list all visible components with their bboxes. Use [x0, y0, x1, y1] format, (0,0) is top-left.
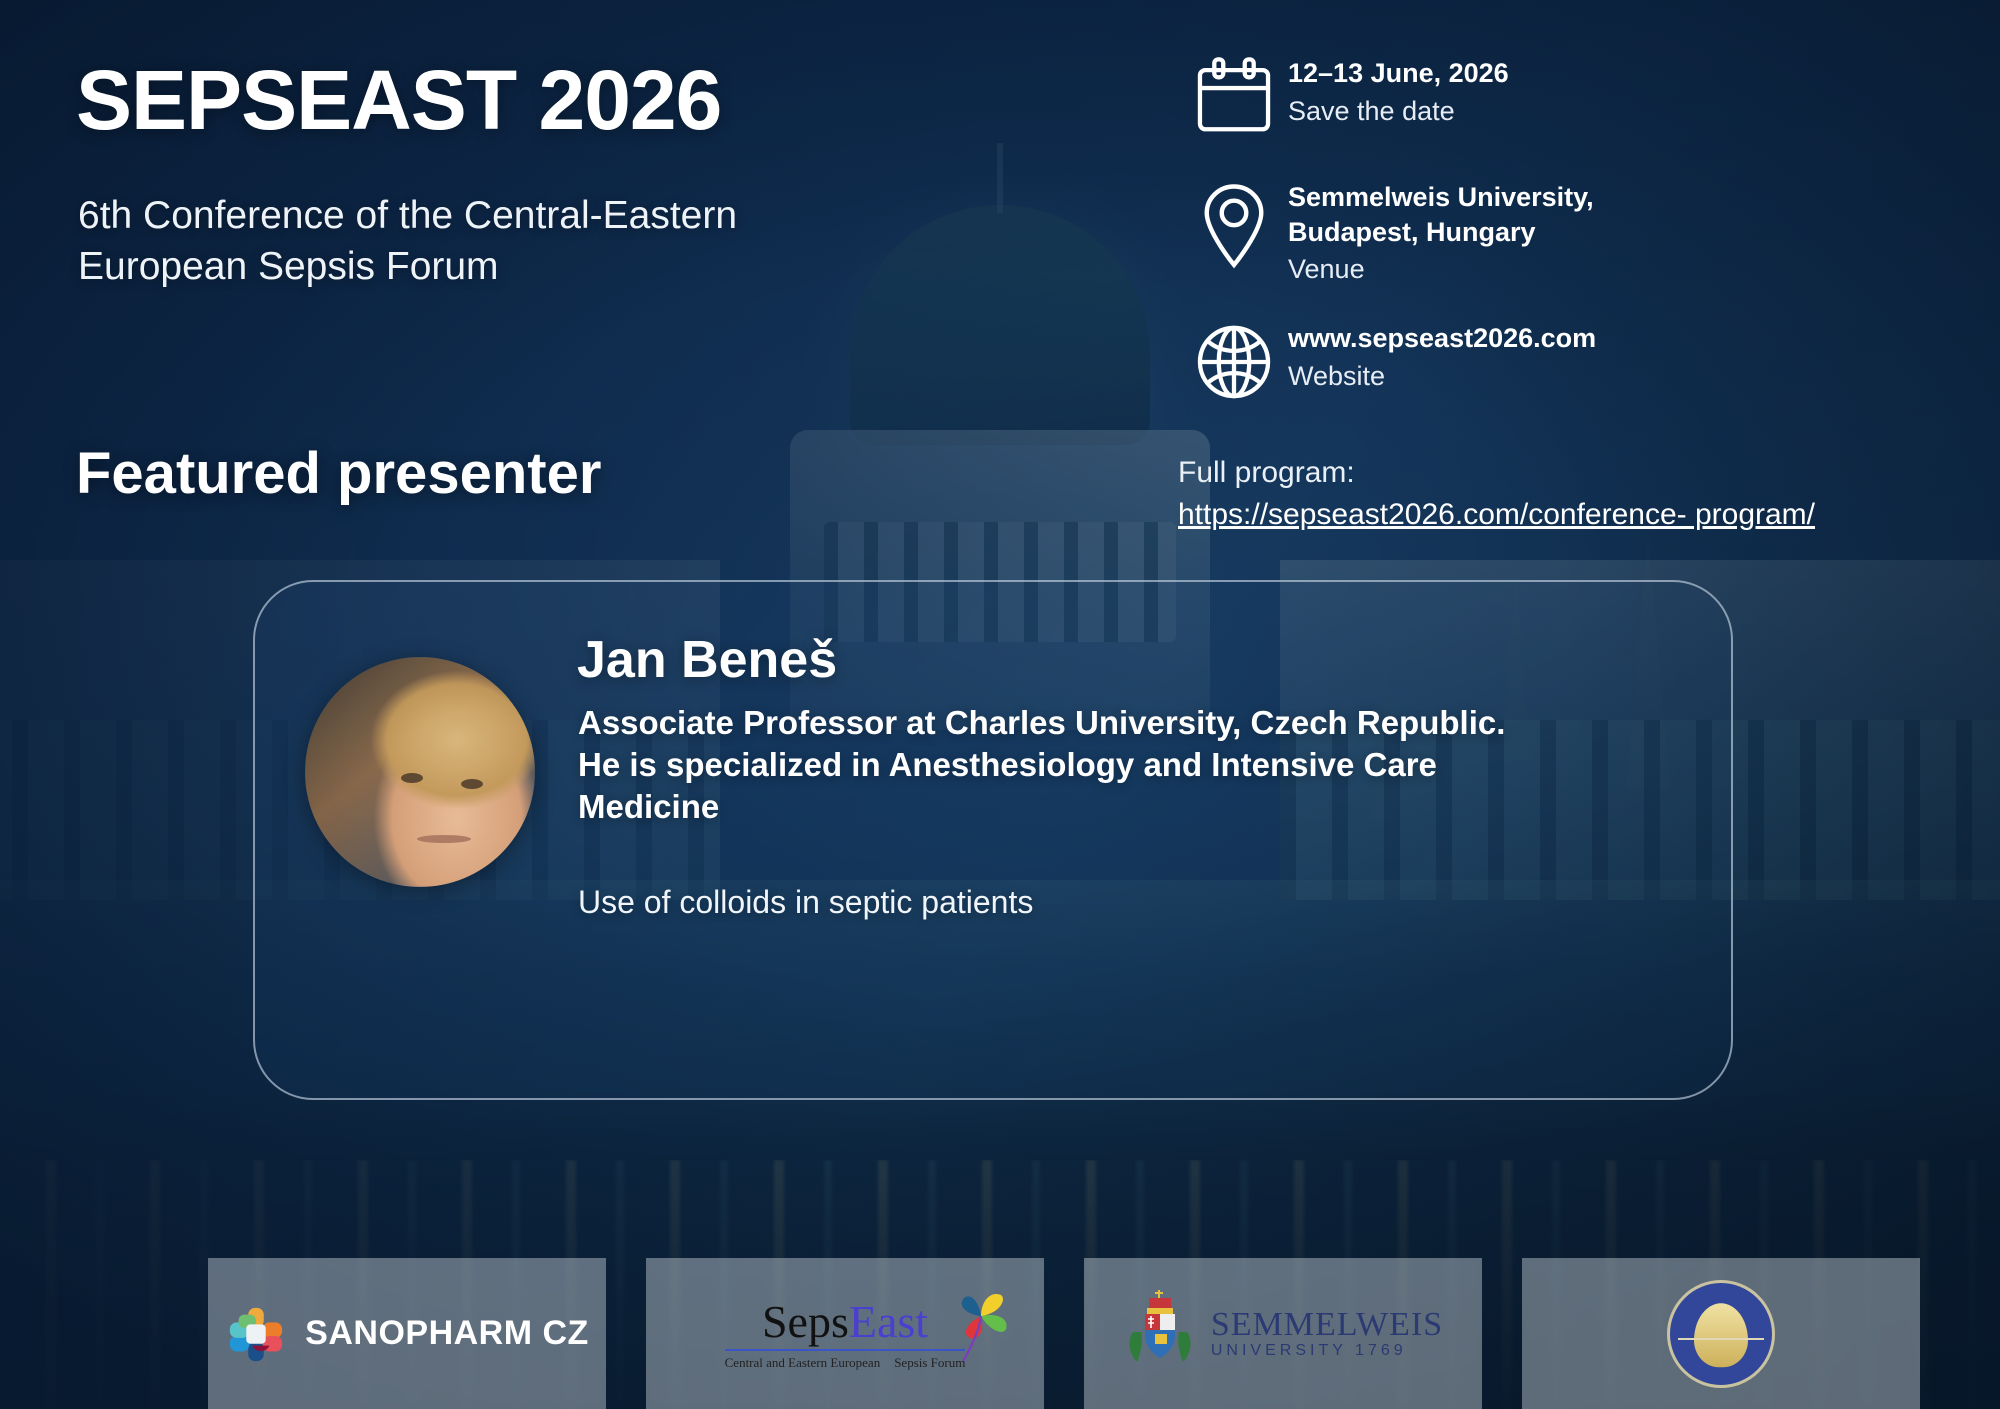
event-date-caption: Save the date	[1288, 94, 1509, 129]
info-text-website: www.sepseast2026.com Website	[1288, 315, 1596, 394]
sanopharm-logo-icon	[225, 1303, 287, 1365]
avatar	[305, 657, 535, 887]
pinwheel-icon	[951, 1287, 1011, 1365]
full-program-label: Full program:	[1178, 455, 1998, 492]
venue-caption: Venue	[1288, 252, 1594, 287]
sponsor-sepseast[interactable]: SepsEast Central and Eastern European Se…	[646, 1258, 1044, 1409]
full-program-block: Full program: https://sepseast2026.com/c…	[1178, 455, 1998, 534]
conference-poster: SEPSEAST 2026 6th Conference of the Cent…	[0, 0, 2000, 1409]
location-pin-icon	[1180, 174, 1288, 270]
semmelweis-logo: SEMMELWEIS UNIVERSITY 1769	[1123, 1286, 1443, 1382]
subtitle-line-1: 6th Conference of the Central-Eastern	[78, 190, 1028, 241]
website-caption: Website	[1288, 359, 1596, 394]
speaker-photo	[305, 657, 535, 887]
subtitle-line-2: European Sepsis Forum	[78, 241, 1028, 292]
info-row-date: 12–13 June, 2026 Save the date	[1180, 50, 1940, 140]
featured-presenter-heading: Featured presenter	[76, 440, 601, 507]
sepseast-logo: SepsEast Central and Eastern European Se…	[725, 1299, 966, 1369]
website-url[interactable]: www.sepseast2026.com	[1288, 321, 1596, 356]
seal-tulip	[1694, 1303, 1748, 1367]
venue-name-line-2: Budapest, Hungary	[1288, 215, 1594, 250]
avatar-eye	[401, 773, 423, 783]
sepseast-tagline-left: Central and Eastern European	[725, 1356, 881, 1369]
sponsor-anesthesiology-department[interactable]	[1522, 1258, 1920, 1409]
sepseast-underline	[725, 1349, 966, 1351]
talk-title: Use of colloids in septic patients	[578, 882, 1688, 924]
page-title: SEPSEAST 2026	[76, 52, 721, 149]
sepseast-word-seps: Seps	[762, 1296, 849, 1347]
sepseast-tagline: Central and Eastern European Sepsis Foru…	[725, 1356, 966, 1369]
semmelweis-name: SEMMELWEIS	[1211, 1307, 1443, 1343]
semmelweis-wordmark: SEMMELWEIS UNIVERSITY 1769	[1211, 1307, 1443, 1359]
seal-ecg-line	[1678, 1338, 1764, 1340]
calendar-icon	[1180, 50, 1288, 140]
full-program-link[interactable]: https://sepseast2026.com/conference- pro…	[1178, 496, 1815, 534]
anesthesiology-seal-icon	[1667, 1280, 1775, 1388]
page-subtitle: 6th Conference of the Central-Eastern Eu…	[78, 190, 1028, 293]
info-row-venue: Semmelweis University, Budapest, Hungary…	[1180, 174, 1940, 287]
speaker-bio-line-2: He is specialized in Anesthesiology and …	[578, 744, 1688, 786]
sponsor-sanopharm-cz[interactable]: SANOPHARM CZ	[208, 1258, 606, 1409]
speaker-name: Jan Beneš	[577, 630, 837, 690]
semmelweis-subtitle: UNIVERSITY 1769	[1211, 1343, 1443, 1360]
event-info-list: 12–13 June, 2026 Save the date Semmelwei…	[1180, 50, 1940, 439]
globe-icon	[1180, 315, 1288, 405]
info-text-venue: Semmelweis University, Budapest, Hungary…	[1288, 174, 1594, 287]
avatar-mouth	[417, 835, 471, 843]
featured-speaker-card: Jan Beneš Associate Professor at Charles…	[253, 580, 1733, 1100]
event-date: 12–13 June, 2026	[1288, 56, 1509, 91]
venue-name-line-1: Semmelweis University,	[1288, 180, 1594, 215]
speaker-bio-line-1: Associate Professor at Charles Universit…	[578, 702, 1688, 744]
avatar-eye	[461, 779, 483, 789]
sepseast-word-east: East	[849, 1296, 928, 1347]
sponsor-semmelweis-university[interactable]: SEMMELWEIS UNIVERSITY 1769	[1084, 1258, 1482, 1409]
sponsor-label: SANOPHARM CZ	[305, 1314, 589, 1353]
sponsor-logo-band: SANOPHARM CZ SepsEast Central and Easter…	[208, 1258, 1920, 1409]
speaker-bio: Associate Professor at Charles Universit…	[578, 702, 1688, 828]
speaker-bio-line-3: Medicine	[578, 786, 1688, 828]
info-row-website[interactable]: www.sepseast2026.com Website	[1180, 315, 1940, 405]
sepseast-wordmark: SepsEast	[725, 1299, 966, 1345]
semmelweis-coat-of-arms-icon	[1123, 1286, 1197, 1382]
info-text-date: 12–13 June, 2026 Save the date	[1288, 50, 1509, 129]
